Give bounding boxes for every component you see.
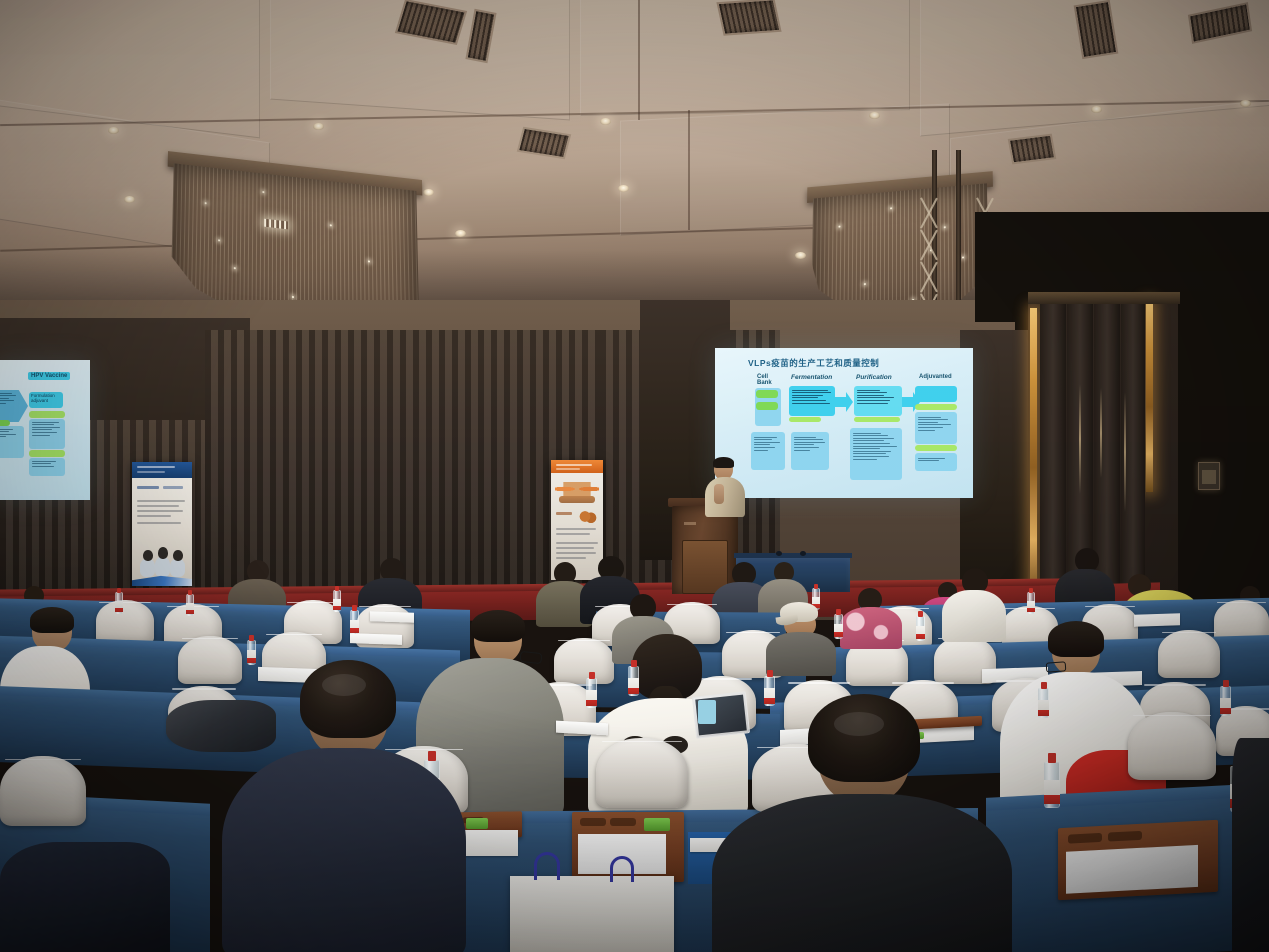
water-bottle [350, 610, 359, 635]
side-bullets-box-2 [29, 458, 65, 476]
hair [471, 610, 525, 642]
chair [0, 756, 86, 826]
gold-light-strip [1146, 302, 1153, 492]
cell-bank-detail-box [751, 432, 785, 470]
hair [1048, 621, 1104, 657]
head-table-top [734, 553, 852, 558]
attendee-mid-white [942, 568, 1006, 638]
banner-body-text [137, 515, 171, 517]
chip-wcb: WCB [756, 402, 778, 410]
hvac-vent [716, 0, 781, 36]
pad-slot [1068, 833, 1102, 844]
water-bottle [628, 666, 639, 696]
gold-light-strip [1030, 308, 1037, 598]
attendee-front-navy [222, 664, 466, 952]
water-bottle [1038, 688, 1049, 718]
banner-body-text [137, 510, 183, 512]
hair [808, 694, 920, 782]
chair [596, 738, 688, 808]
torso [222, 748, 466, 952]
flow-arrow-1: .arrow:after{border-top-width:10px;borde… [835, 392, 853, 412]
side-box-lower-left [0, 426, 24, 458]
water-bottle [247, 640, 256, 665]
banner-graphic [555, 482, 599, 496]
banner-body-text [556, 542, 598, 544]
adjuvanted-detail-box [915, 412, 957, 444]
final-lot-label: Final Lot [915, 445, 957, 451]
banner-left-header [132, 462, 192, 478]
torso [712, 794, 1012, 952]
hair [30, 607, 74, 633]
tote-bag [510, 876, 674, 952]
water-bottle [186, 594, 194, 616]
ceiling-seam [688, 110, 690, 230]
presenter-hair [713, 457, 734, 468]
banner-figure-head [158, 547, 168, 559]
desk-pad [1058, 820, 1218, 900]
column-heading-cell-bank: Cell Bank [757, 374, 781, 387]
banner-header-text [556, 468, 580, 470]
pad-slot [1108, 831, 1142, 842]
banner-right-header [551, 460, 603, 473]
hair-highlight [322, 674, 366, 696]
banner-body-text [556, 528, 596, 530]
banner-caption [556, 512, 572, 515]
paper [1134, 613, 1180, 627]
ceiling-seam [638, 0, 640, 120]
banner-body-text [137, 522, 181, 524]
attendee-pink-floral [840, 588, 902, 644]
banner-subtitle-text [163, 486, 183, 489]
recessed-downlight [313, 123, 324, 130]
torso [1232, 738, 1269, 952]
side-box-subtitle: Formulation adjuvant [29, 392, 63, 408]
recessed-downlight [600, 118, 611, 125]
purification-detail-box [850, 428, 902, 480]
water-bottle [115, 592, 123, 614]
main-slide: VLPs疫苗的生产工艺和质量控制 Cell Bank MCB WCB Ferme… [715, 348, 973, 498]
adjuvanted-box [915, 386, 957, 402]
side-slide-subtitle: Formulation adjuvant [31, 393, 61, 403]
banner-body-text [556, 533, 590, 535]
torso [0, 842, 170, 952]
fermentation-footer [789, 417, 821, 422]
water-bottle [333, 590, 341, 612]
banner-body-text [556, 547, 594, 549]
water-bottle [1027, 592, 1035, 614]
fermentation-detail-box [791, 432, 829, 470]
paper [370, 611, 414, 623]
water-bottle [916, 616, 925, 641]
side-slide: HPV Vaccine Formulation adjuvant Clinica… [0, 360, 90, 500]
table-mic [776, 551, 782, 556]
recessed-downlight [455, 230, 466, 237]
attendee-front-dark [712, 700, 1012, 952]
adjuvanted-subheading: Final drug product [915, 404, 957, 410]
torso [942, 590, 1006, 642]
banner-subtitle-text [137, 486, 159, 489]
main-projection-screen: VLPs疫苗的生产工艺和质量控制 Cell Bank MCB WCB Ferme… [715, 348, 973, 498]
presenter-body [705, 477, 745, 517]
main-slide-title: VLPs疫苗的生产工艺和质量控制 [748, 357, 879, 369]
water-bottle [834, 614, 843, 639]
recessed-downlight [1240, 100, 1251, 107]
banner-illustration [577, 510, 597, 523]
banner-body-text [137, 505, 179, 507]
banner-figure-head [173, 550, 183, 561]
paper [350, 633, 402, 645]
banner-body-text [556, 552, 596, 554]
purification-footer [854, 417, 900, 422]
side-bullets-box [29, 419, 65, 449]
tote-handle [610, 856, 634, 882]
recessed-downlight [618, 185, 629, 192]
conference-hall-photo: HPV Vaccine Formulation adjuvant Clinica… [0, 0, 1269, 952]
chair [1128, 712, 1216, 780]
wall-sign-graphic [1202, 470, 1216, 484]
chip-mcb: MCB [756, 390, 778, 398]
panel-cornice [1028, 292, 1180, 304]
glasses [1046, 661, 1067, 672]
recessed-downlight [1091, 106, 1102, 113]
recessed-downlight [108, 127, 119, 134]
podium-plaque [684, 522, 696, 525]
chair [1158, 630, 1220, 678]
fermentation-box [789, 386, 835, 416]
banner-header-text [137, 471, 165, 473]
presenter-arm [714, 484, 724, 504]
slat-highlight [1124, 392, 1126, 512]
hair [300, 660, 396, 738]
tote-handle [534, 852, 560, 880]
recessed-downlight [124, 196, 135, 203]
column-heading-purification: Purification [856, 374, 892, 381]
table-mic [800, 551, 806, 556]
side-section-label: Clinical studies / outcome [29, 411, 65, 418]
water-bottle [1044, 762, 1060, 808]
banner-body-text [137, 500, 185, 502]
attendee-white-cap [766, 602, 836, 668]
desk-pad-badge [466, 818, 488, 829]
side-final-lot-label: Final Lot [29, 450, 65, 457]
chair [96, 600, 154, 644]
banner-figure [155, 557, 170, 577]
banner-header-text [556, 464, 592, 466]
banner-figure-head [143, 550, 153, 561]
recessed-downlight [869, 112, 880, 119]
side-box-left [0, 390, 28, 422]
hair-highlight [834, 712, 884, 736]
banner-header-text [137, 466, 175, 468]
water-bottle [1220, 686, 1231, 716]
banner-figure [170, 559, 185, 577]
water-bottle [586, 678, 597, 708]
banner-graphic-bar [559, 496, 595, 503]
pad-slot [610, 818, 636, 826]
column-heading-adjuvanted: Adjuvanted [919, 374, 952, 380]
side-green-chip [0, 420, 10, 426]
column-heading-fermentation: Fermentation [791, 374, 832, 381]
slat-highlight [1079, 384, 1081, 494]
purification-box [854, 386, 902, 416]
side-slide-title: HPV Vaccine [28, 372, 70, 380]
presenter [704, 458, 748, 516]
banner-left [132, 462, 192, 586]
recessed-downlight [423, 189, 434, 196]
banner-figure [140, 559, 155, 577]
desk-pad-badge [644, 818, 670, 831]
torso [840, 607, 902, 649]
slat-highlight [1100, 388, 1102, 478]
pad-slot [580, 818, 606, 826]
pad-paper [1066, 845, 1198, 894]
attendee-left-front [0, 842, 170, 952]
side-projection-screen: HPV Vaccine Formulation adjuvant Clinica… [0, 360, 90, 500]
final-lot-detail-box [915, 453, 957, 471]
attendee-front-right-dark [1232, 738, 1269, 952]
torso [766, 632, 836, 676]
